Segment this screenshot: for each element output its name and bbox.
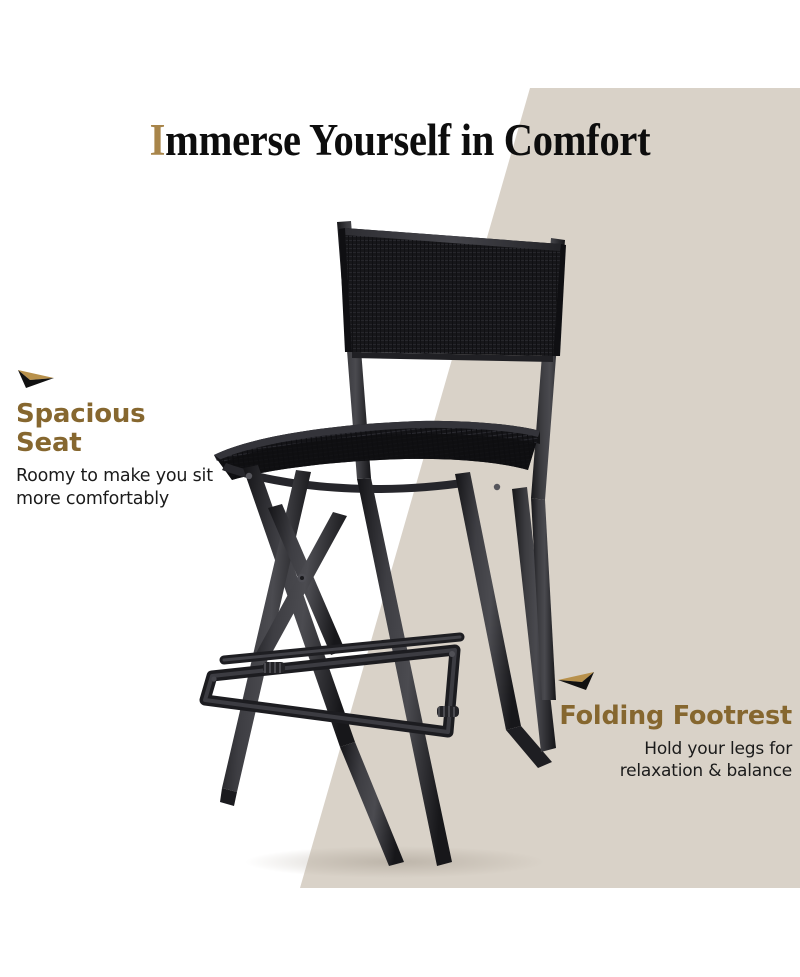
callout-title-folding-footrest: Folding Footrest <box>548 702 792 731</box>
callout-body-folding-footrest: Hold your legs for relaxation & balance <box>548 738 792 782</box>
headline-rest: mmerse Yourself in Comfort <box>165 115 650 165</box>
product-feature-poster: Immerse Yourself in Comfort <box>0 0 800 977</box>
headline-lead-letter: I <box>150 115 165 165</box>
seat-rivet-right <box>494 484 500 490</box>
footrest-spring-right <box>437 706 459 717</box>
arrow-right-icon <box>16 366 56 392</box>
callout-title-spacious-seat: Spacious Seat <box>16 400 266 459</box>
footrest-spring-left <box>263 662 285 673</box>
callout-body-spacious-seat: Roomy to make you sit more comfortably <box>16 465 266 511</box>
backrest-mesh-panel <box>339 228 566 362</box>
callout-folding-footrest: Folding Footrest Hold your legs for rela… <box>548 668 792 782</box>
headline: Immerse Yourself in Comfort <box>40 118 760 163</box>
callout-spacious-seat: Spacious Seat Roomy to make you sit more… <box>16 366 266 510</box>
arrow-left-icon <box>556 668 596 694</box>
